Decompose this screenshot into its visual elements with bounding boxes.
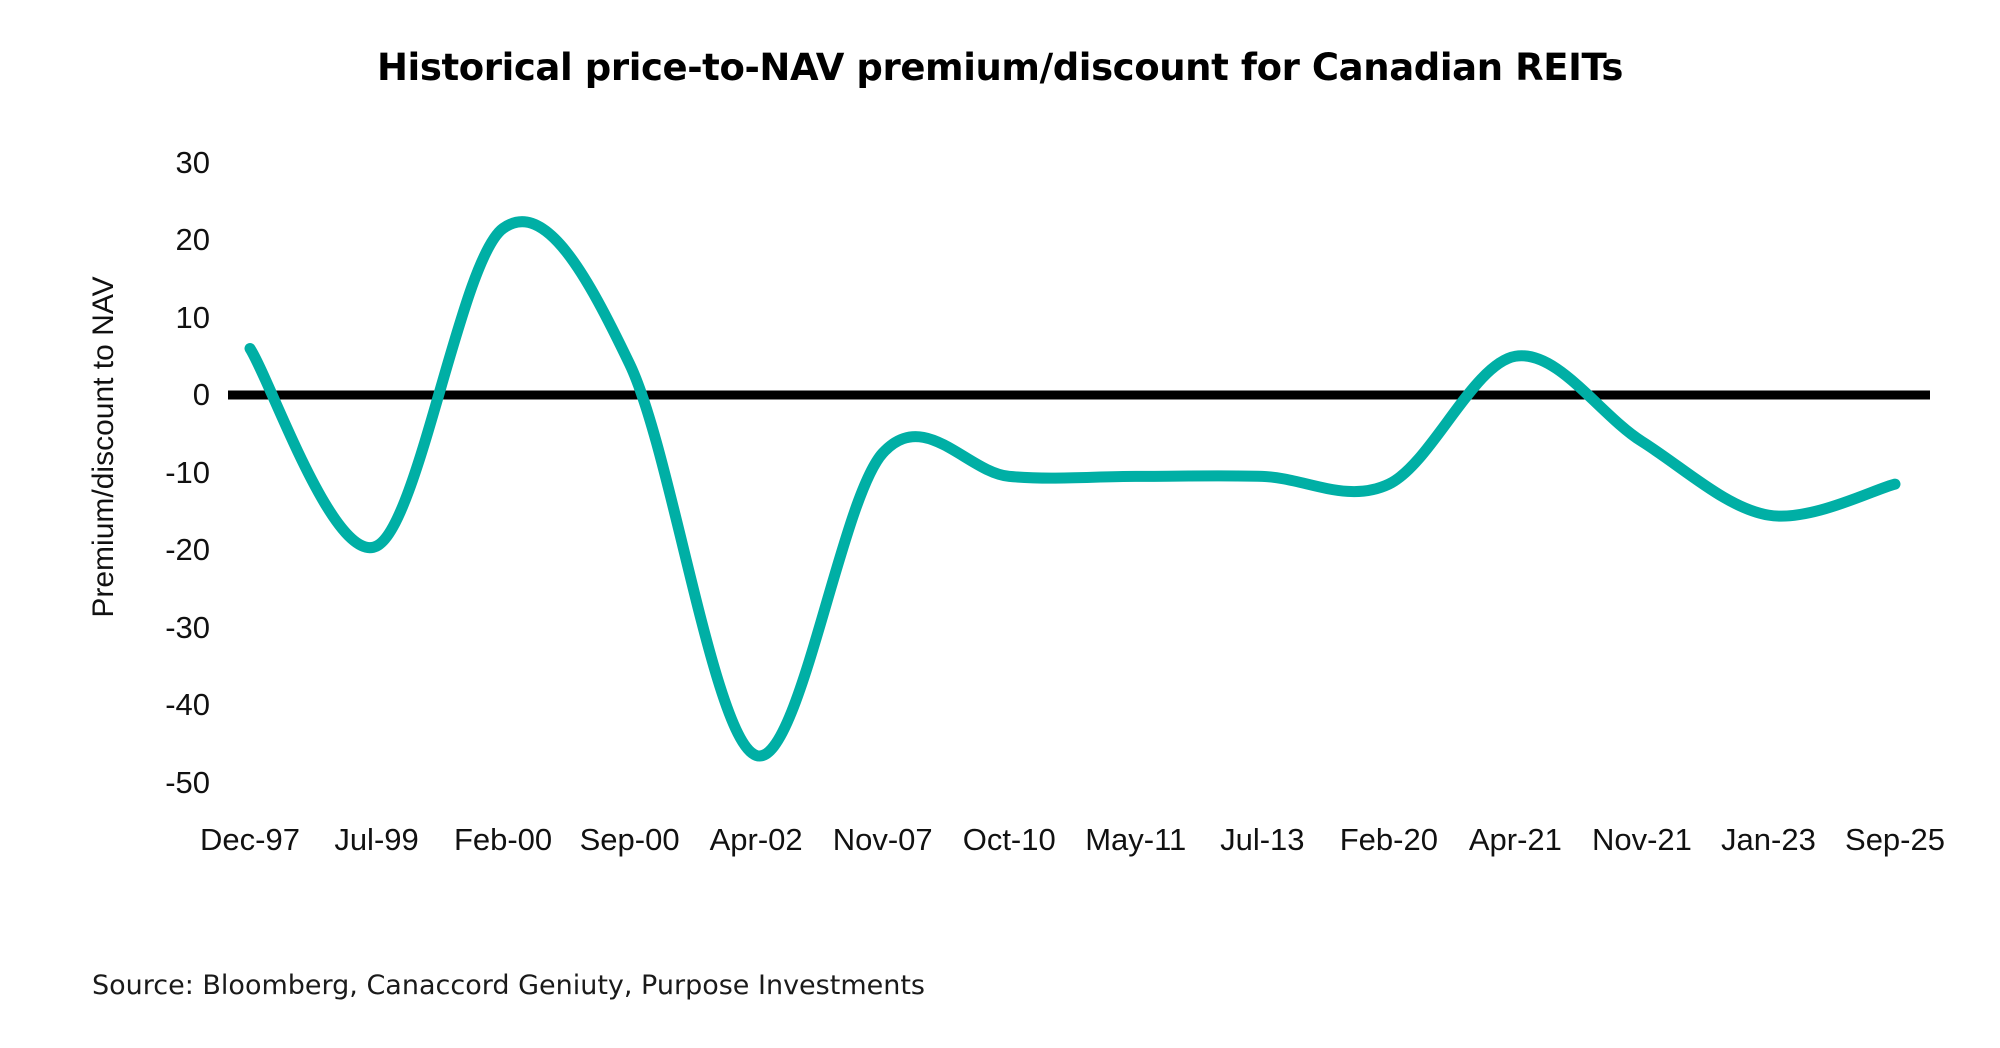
chart-canvas (0, 0, 2000, 900)
x-axis-tick-label: Jan-23 (1721, 822, 1816, 858)
x-axis-tick-label: Apr-02 (710, 822, 803, 858)
x-axis-tick-label: Sep-00 (580, 822, 680, 858)
x-axis-tick-label: Oct-10 (963, 822, 1056, 858)
x-axis-tick-label: Sep-25 (1845, 822, 1945, 858)
x-axis-tick-label: Apr-21 (1469, 822, 1562, 858)
chart-page: Historical price-to-NAV premium/discount… (0, 0, 2000, 1048)
source-note: Source: Bloomberg, Canaccord Geniuty, Pu… (92, 970, 925, 1001)
x-axis-tick-label: Jul-99 (334, 822, 418, 858)
x-axis-tick-label: May-11 (1085, 822, 1186, 858)
x-axis-tick-label: Nov-07 (833, 822, 933, 858)
x-axis-tick-label: Feb-00 (454, 822, 552, 858)
chart-plot-area: Premium/discount to NAV 3020100-10-20-30… (0, 0, 2000, 900)
x-axis-tick-label: Dec-97 (200, 822, 300, 858)
series-line-premium-discount (250, 222, 1895, 756)
x-axis-tick-label: Nov-21 (1592, 822, 1692, 858)
x-axis-tick-label: Jul-13 (1220, 822, 1304, 858)
x-axis-tick-label: Feb-20 (1340, 822, 1438, 858)
